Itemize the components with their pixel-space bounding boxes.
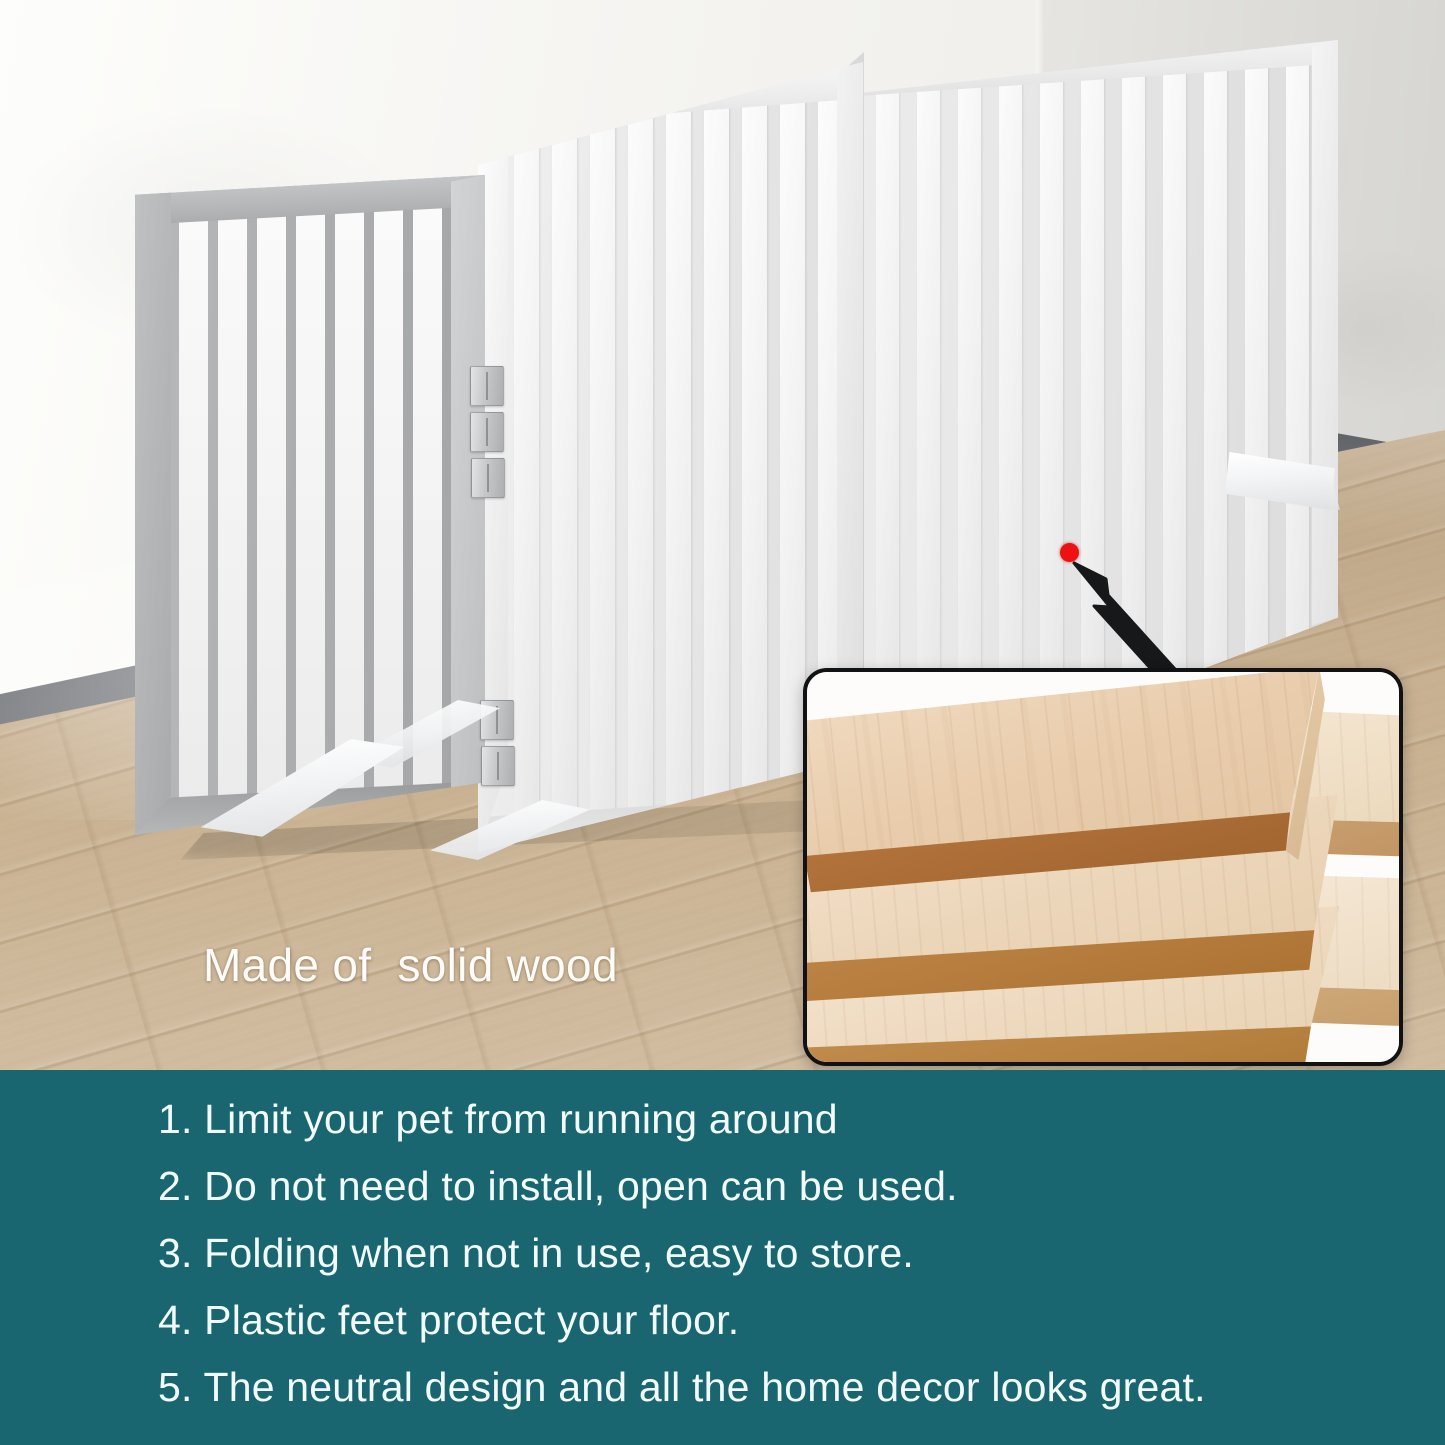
gate-slat bbox=[628, 62, 653, 852]
feature-item-3: 3. Folding when not in use, easy to stor… bbox=[158, 1220, 1408, 1287]
wood-sample-inset bbox=[803, 668, 1403, 1066]
feature-list-panel: 1. Limit your pet from running around2. … bbox=[0, 1070, 1445, 1445]
gate-slat bbox=[257, 175, 286, 835]
feature-item-2: 2. Do not need to install, open can be u… bbox=[158, 1153, 1408, 1220]
lifestyle-photo: Made of solid wood bbox=[0, 0, 1445, 1070]
gate-hinge-bottom-lower bbox=[481, 746, 515, 786]
gate-hinge-lower bbox=[471, 458, 505, 498]
gate-slat bbox=[296, 175, 325, 835]
feature-item-5: 5. The neutral design and all the home d… bbox=[158, 1354, 1408, 1421]
inset-background bbox=[807, 672, 1399, 1062]
product-image: Made of solid wood 1. Limit your pet fro… bbox=[0, 0, 1445, 1445]
gate-slat bbox=[780, 62, 805, 852]
gate-hinge-mid bbox=[470, 412, 504, 452]
wood-material-marker-dot bbox=[1060, 543, 1079, 562]
feature-item-4: 4. Plastic feet protect your floor. bbox=[158, 1287, 1408, 1354]
gate-slat bbox=[552, 62, 577, 852]
gate-slat bbox=[666, 62, 691, 852]
wood-caption: Made of solid wood bbox=[203, 938, 618, 992]
gate-slat bbox=[590, 62, 615, 852]
feature-list: 1. Limit your pet from running around2. … bbox=[158, 1086, 1408, 1421]
gate-slat bbox=[218, 175, 247, 835]
gate-slat bbox=[335, 175, 364, 835]
gate-slat bbox=[742, 62, 767, 852]
gate-slat bbox=[704, 62, 729, 852]
gate-slat bbox=[514, 62, 539, 852]
gate-hinge-upper bbox=[470, 366, 504, 406]
gate-stile-left-end bbox=[135, 175, 171, 835]
gate-slat bbox=[179, 175, 208, 835]
feature-item-1: 1. Limit your pet from running around bbox=[158, 1086, 1408, 1153]
